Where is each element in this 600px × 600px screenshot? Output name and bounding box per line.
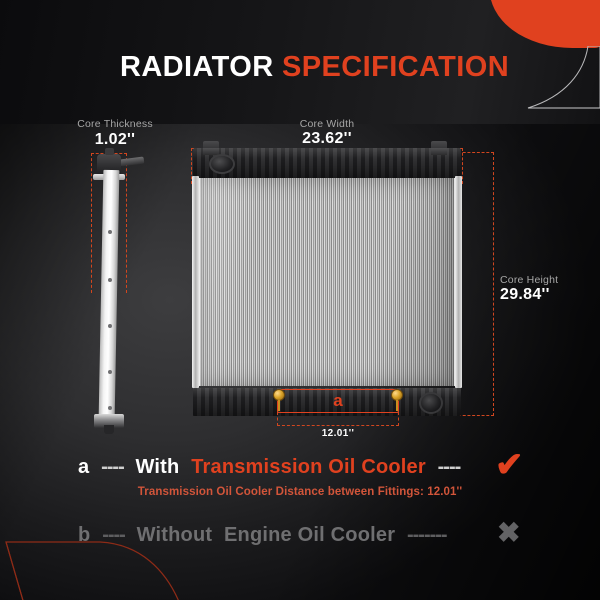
radiator-core — [196, 178, 458, 386]
red-corner-blob-icon — [486, 0, 600, 48]
fitting-distance-bracket — [277, 412, 399, 426]
cooler-distance-note: Transmission Oil Cooler Distance between… — [0, 486, 600, 498]
transmission-cooler-fitting-box: a — [277, 389, 399, 413]
core-rail-left — [192, 176, 199, 388]
core-height-group: Core Height 29.84'' — [500, 274, 558, 304]
red-arc-outline-icon — [0, 524, 200, 600]
legend-lead-dashes-a: ---- — [101, 456, 124, 478]
core-thickness-value: 1.02'' — [60, 131, 170, 149]
title-word-radiator: RADIATOR — [120, 51, 274, 83]
cross-icon: ✖ — [497, 518, 520, 548]
fitting-marker-a: a — [278, 391, 398, 411]
core-width-group: Core Width 23.62'' — [193, 118, 461, 148]
core-width-value: 23.62'' — [193, 130, 461, 148]
legend-highlight-a: Transmission Oil Cooler — [191, 456, 426, 478]
legend-row-a: a ---- With Transmission Oil Cooler ----… — [0, 452, 600, 484]
core-rail-right — [455, 176, 462, 388]
page-title: RADIATOR SPECIFICATION — [120, 51, 509, 84]
legend-trail-dashes-a: ---- — [438, 456, 461, 478]
core-height-bracket — [458, 152, 494, 416]
legend-highlight-b: Engine Oil Cooler — [224, 524, 395, 546]
fitting-distance-value: 12.01'' — [277, 428, 399, 439]
core-thickness-label: Core Thickness — [60, 118, 170, 130]
inlet-port — [209, 154, 235, 174]
core-width-label: Core Width — [193, 118, 461, 130]
legend-marker-a: a — [78, 456, 89, 478]
core-thickness-group: Core Thickness 1.02'' — [60, 118, 170, 418]
core-height-value: 29.84'' — [500, 286, 558, 304]
legend-prefix-a: With — [136, 456, 180, 478]
top-tank — [193, 148, 461, 178]
core-height-label: Core Height — [500, 274, 558, 286]
check-icon: ✔ — [495, 448, 524, 482]
legend-row-a-text: a ---- With Transmission Oil Cooler ---- — [78, 452, 466, 482]
legend-trail-dashes-b: ------- — [407, 524, 447, 546]
outlet-port — [419, 392, 443, 414]
header-band: RADIATOR SPECIFICATION — [0, 0, 600, 124]
spec-sheet-canvas: RADIATOR SPECIFICATION Core Thickness 1.… — [0, 0, 600, 600]
title-word-specification: SPECIFICATION — [282, 51, 509, 83]
radiator-front-view-icon: a — [193, 148, 461, 416]
